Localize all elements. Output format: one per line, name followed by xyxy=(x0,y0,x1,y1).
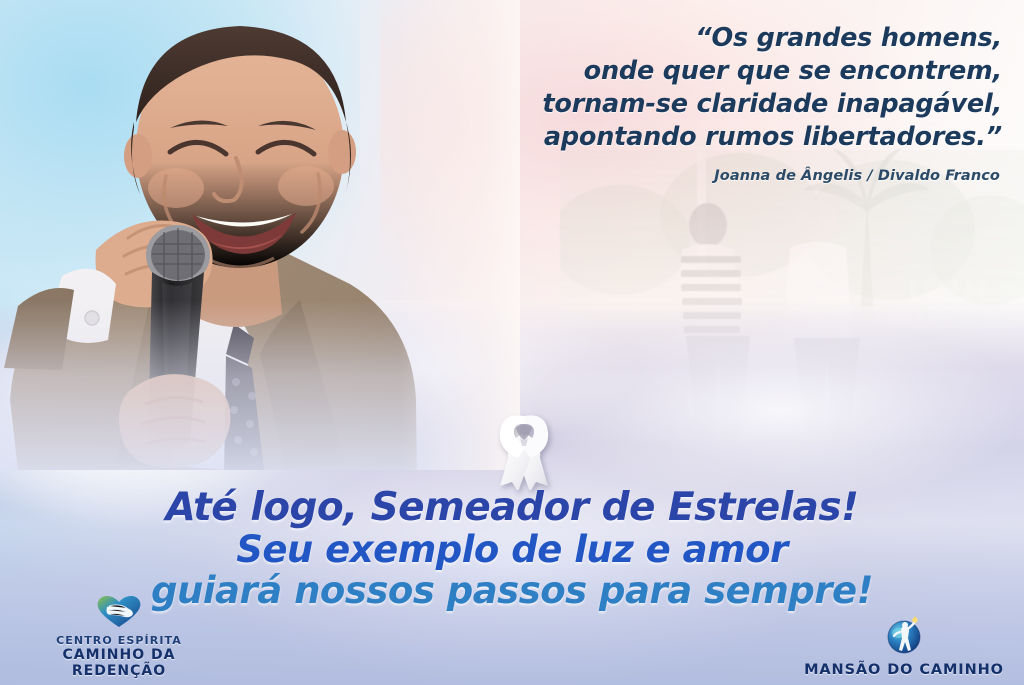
quote-attribution: Joanna de Ângelis / Divaldo Franco xyxy=(300,168,1000,184)
globe-torch-figure-icon xyxy=(794,616,1014,660)
quote-line-1: “Os grandes homens, xyxy=(302,22,1002,55)
logo-mansao-do-caminho: MANSÃO DO CAMINHO xyxy=(794,616,1014,679)
headline-line-1: Até logo, Semeador de Estrelas! xyxy=(0,487,1024,529)
logo-left-line-1: CENTRO ESPÍRITA xyxy=(14,634,224,647)
logo-centro-espirita: CENTRO ESPÍRITA CAMINHO DA REDENÇÃO xyxy=(14,594,224,679)
heart-hands-icon xyxy=(14,594,224,632)
quote-text: “Os grandes homens, onde quer que se enc… xyxy=(302,22,1002,154)
headline-line-2: Seu exemplo de luz e amor xyxy=(0,529,1024,570)
quote-line-4: apontando rumos libertadores.” xyxy=(302,121,1002,154)
logo-left-line-2: CAMINHO DA REDENÇÃO xyxy=(14,647,224,679)
memorial-poster: “Os grandes homens, onde quer que se enc… xyxy=(0,0,1024,685)
quote-line-2: onde quer que se encontrem, xyxy=(302,55,1002,88)
logo-right-line-1: MANSÃO DO CAMINHO xyxy=(794,662,1014,679)
white-ribbon-icon xyxy=(480,408,568,490)
quote-line-3: tornam-se claridade inapagável, xyxy=(302,88,1002,121)
